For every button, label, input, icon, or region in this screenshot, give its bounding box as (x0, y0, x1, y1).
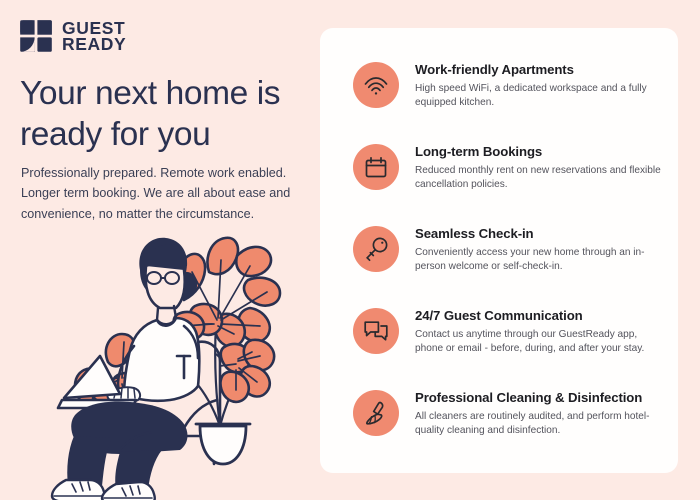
calendar-icon (353, 144, 399, 190)
feature-item-guest-communication[interactable]: 24/7 Guest Communication Contact us anyt… (353, 306, 665, 356)
features-panel: Work-friendly Apartments High speed WiFi… (320, 28, 678, 473)
feature-desc: Conveniently access your new home throug… (415, 246, 665, 275)
feature-item-work-friendly-apartments[interactable]: Work-friendly Apartments High speed WiFi… (353, 60, 665, 110)
feature-desc: Contact us anytime through our GuestRead… (415, 328, 665, 357)
person-working-on-laptop-in-armchair-with-plants-illustration (24, 228, 314, 500)
feature-item-professional-cleaning[interactable]: Professional Cleaning & Disinfection All… (353, 388, 665, 438)
key-icon (353, 226, 399, 272)
chat-bubbles-icon (353, 308, 399, 354)
broom-icon (353, 390, 399, 436)
feature-text: Long-term Bookings Reduced monthly rent … (415, 142, 665, 192)
feature-title: Seamless Check-in (415, 226, 665, 243)
feature-item-seamless-check-in[interactable]: Seamless Check-in Conveniently access yo… (353, 224, 665, 274)
feature-text: 24/7 Guest Communication Contact us anyt… (415, 306, 665, 356)
wifi-icon (353, 62, 399, 108)
hero-headline: Your next home is ready for you (20, 74, 312, 155)
brand-wordmark: GUEST READY (62, 20, 126, 53)
feature-text: Professional Cleaning & Disinfection All… (415, 388, 665, 438)
hero-subhead: Professionally prepared. Remote work ena… (21, 163, 293, 224)
feature-text: Work-friendly Apartments High speed WiFi… (415, 60, 665, 110)
feature-item-long-term-bookings[interactable]: Long-term Bookings Reduced monthly rent … (353, 142, 665, 192)
feature-title: 24/7 Guest Communication (415, 308, 665, 325)
promo-graphic: GUEST READY Your next home is ready for … (0, 0, 700, 500)
feature-title: Professional Cleaning & Disinfection (415, 390, 665, 407)
hero-column: GUEST READY Your next home is ready for … (0, 0, 318, 500)
feature-desc: High speed WiFi, a dedicated workspace a… (415, 82, 665, 111)
feature-title: Long-term Bookings (415, 144, 665, 161)
guestready-quadrant-logo-icon (19, 19, 53, 53)
feature-desc: Reduced monthly rent on new reservations… (415, 164, 665, 193)
feature-title: Work-friendly Apartments (415, 62, 665, 79)
feature-desc: All cleaners are routinely audited, and … (415, 410, 665, 439)
brand-logo[interactable]: GUEST READY (19, 19, 126, 53)
feature-text: Seamless Check-in Conveniently access yo… (415, 224, 665, 274)
brand-name-line2: READY (62, 36, 126, 52)
